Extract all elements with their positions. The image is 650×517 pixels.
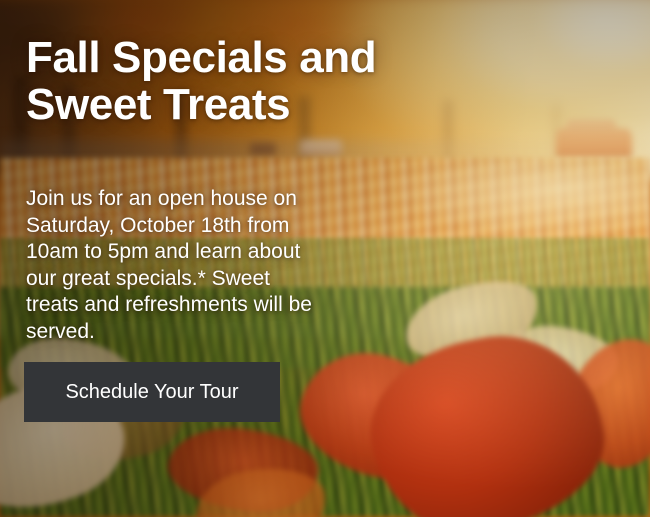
fall-specials-banner: Fall Specials and Sweet Treats Join us f… bbox=[0, 0, 650, 517]
banner-content: Fall Specials and Sweet Treats Join us f… bbox=[0, 0, 650, 517]
body-copy: Join us for an open house on Saturday, O… bbox=[26, 186, 328, 345]
schedule-your-tour-button[interactable]: Schedule Your Tour bbox=[24, 362, 280, 422]
headline: Fall Specials and Sweet Treats bbox=[26, 34, 546, 128]
